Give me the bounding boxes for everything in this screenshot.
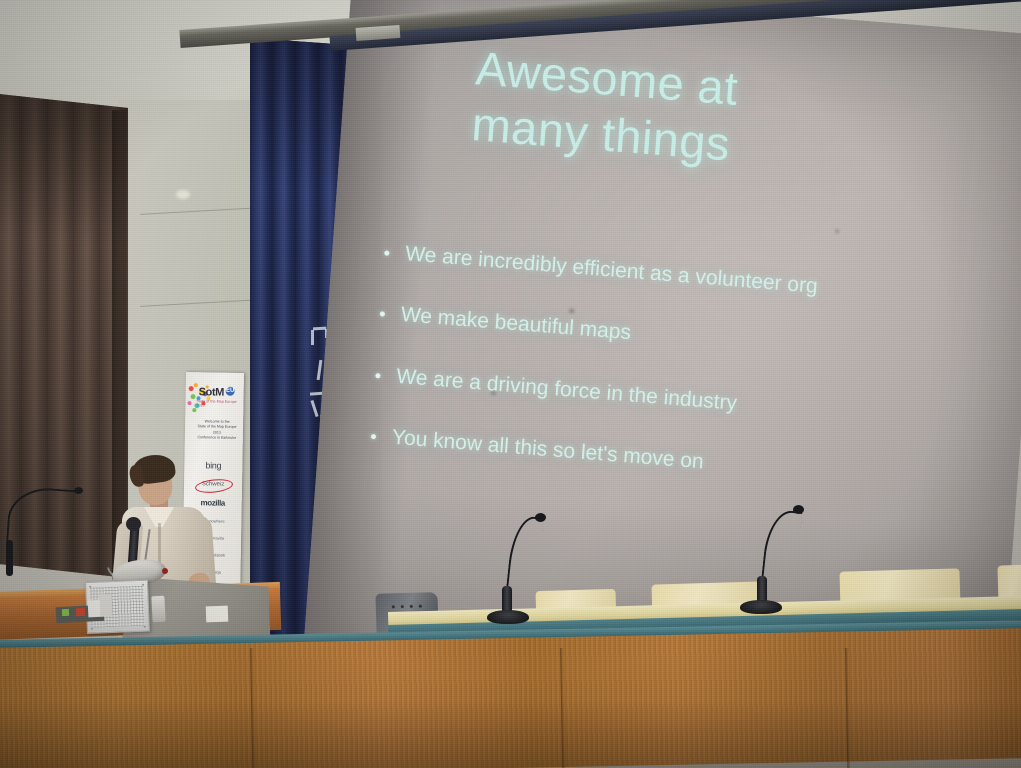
slide-bullet-item: You know all this so let's move on [370,422,1020,501]
slide-bullet-text: You know all this so let's move on [391,424,705,476]
slide-bullet-text: We make beautiful maps [400,301,632,347]
slide-title: Awesome at many things [470,40,1021,197]
desk-small-object [62,609,69,616]
banner-welcome-text: Welcome to the State of the Map Europe 2… [194,419,240,441]
sotm-dot-icon [187,401,191,405]
bullet-dot-icon [384,250,389,255]
slide-bullet-item: We make beautiful maps [379,300,1021,379]
sotm-tagline: State of the Map Europe 2013 [196,399,243,408]
sotm-dot-icon [189,386,194,391]
sotm-dot-icon [194,383,198,387]
desk-white-box [206,606,229,623]
slide-bullet-item: We are a driving force in the industry [375,361,1021,440]
monitor-screw [91,628,93,630]
slide-bullet-text: We are incredibly efficient as a volunte… [404,240,818,300]
microphone-capsule-icon [793,505,804,514]
podium-lamp-indicator [162,568,168,574]
chair-perforation [410,605,413,608]
chair-perforation [401,605,404,608]
sotm-dot-icon [191,394,196,399]
curtain-highlight [311,330,314,345]
monitor-screw [144,626,146,628]
chair-perforation [392,605,395,608]
bullet-dot-icon [380,312,385,317]
sotm-logo-text: SotM [199,386,225,398]
banner-welcome-line-2: State of the Map Europe 2013 [194,425,240,437]
sotm-dot-icon [192,408,196,412]
monitor-screw [89,586,91,588]
microphone-base [487,610,529,624]
bullet-dot-icon [375,373,380,378]
conference-photo: Awesome at many things We are incredibly… [0,0,1021,768]
bullet-dot-icon [371,434,376,439]
left-microphone-capsule-icon [74,487,83,494]
slide-bullet-item: We are incredibly efficient as a volunte… [383,238,1021,317]
wall-light-reflection [176,190,190,199]
stage-bottom-shading [0,700,1021,768]
sotm-eu-badge: EU [226,387,235,396]
slide-bullet-text: We are a driving force in the industry [395,362,738,416]
microphone-head-icon [126,517,141,531]
desk-paper-note [100,594,113,616]
chair-perforation [419,605,422,608]
microphone-base [740,600,782,614]
slide-bullet-list: We are incredibly efficient as a volunte… [368,238,1021,534]
desk-small-object [76,608,85,616]
desk-remote-control [151,596,165,623]
monitor-screw [142,584,144,586]
left-microphone-stand [6,540,13,576]
banner-welcome-line-3: Conference in Karlsruhe [194,435,240,441]
screen-blemish [835,229,839,233]
microphone-capsule-icon [535,513,546,522]
